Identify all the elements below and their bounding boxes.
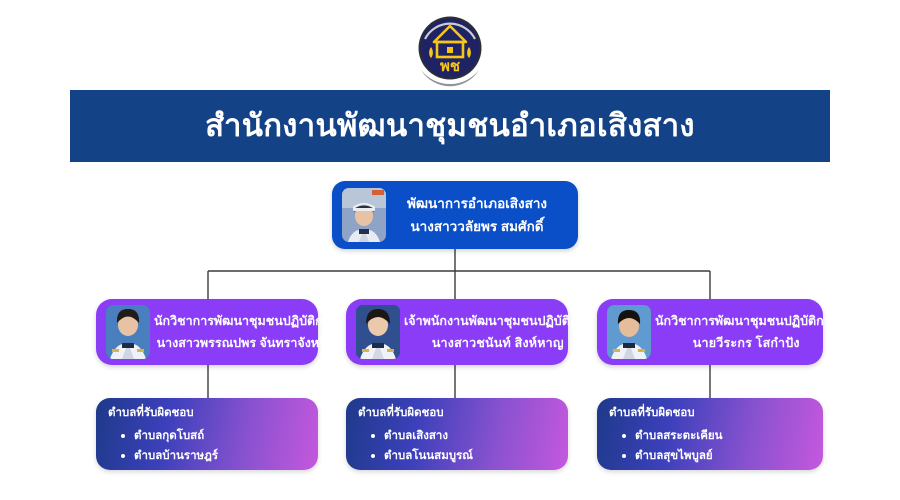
tambon-center-item-1: ตำบลเสิงสาง [384, 430, 448, 442]
org-chart-page: พช สำนักงานพัฒนาชุมชนอำเภอเสิงสาง [0, 0, 900, 500]
list-item: ตำบลกุดโบสถ์ [134, 426, 306, 446]
tambon-left-heading: ตำบลที่รับผิดชอบ [108, 407, 306, 421]
card-head-labels: พัฒนาการอำเภอเสิงสาง นางสาววลัยพร สมศักด… [386, 196, 568, 234]
bullet-icon [371, 454, 375, 458]
card-staff-right-person: นายวีระกร โสกำปัง [693, 336, 800, 350]
card-staff-center-person: นางสาวชนันท์ สิงห์หาญ [432, 336, 564, 350]
tambon-right-item-2: ตำบลสุขไพบูลย์ [635, 450, 713, 462]
tambon-box-left: ตำบลที่รับผิดชอบ ตำบลกุดโบสถ์ ตำบลบ้านรา… [96, 398, 318, 470]
card-staff-center[interactable]: เจ้าพนักงานพัฒนาชุมชนปฏิบัติงาน นางสาวชน… [346, 299, 568, 365]
list-item: ตำบลสระตะเคียน [635, 426, 811, 446]
bullet-icon [622, 454, 626, 458]
card-staff-right-role: นักวิชาการพัฒนาชุมชนปฏิบัติการ [655, 314, 837, 328]
list-item: ตำบลเสิงสาง [384, 426, 556, 446]
card-head-person: นางสาววลัยพร สมศักดิ์ [410, 219, 543, 235]
card-staff-center-labels: เจ้าพนักงานพัฒนาชุมชนปฏิบัติงาน นางสาวชน… [400, 314, 596, 350]
bullet-icon [371, 434, 375, 438]
tambon-center-item-2: ตำบลโนนสมบูรณ์ [384, 450, 473, 462]
tambon-left-item-1: ตำบลกุดโบสถ์ [134, 430, 204, 442]
card-head-officer[interactable]: พัฒนาการอำเภอเสิงสาง นางสาววลัยพร สมศักด… [332, 181, 578, 249]
card-staff-center-role: เจ้าพนักงานพัฒนาชุมชนปฏิบัติงาน [404, 314, 592, 328]
card-staff-right-labels: นักวิชาการพัฒนาชุมชนปฏิบัติการ นายวีระกร… [651, 314, 841, 350]
bullet-icon [121, 454, 125, 458]
officer-portrait-photo [607, 305, 651, 359]
tambon-left-list: ตำบลกุดโบสถ์ ตำบลบ้านราษฎร์ [108, 426, 306, 466]
officer-portrait-photo [356, 305, 400, 359]
bullet-icon [622, 434, 626, 438]
tambon-right-list: ตำบลสระตะเคียน ตำบลสุขไพบูลย์ [609, 426, 811, 466]
card-staff-left-role: นักวิชาการพัฒนาชุมชนปฏิบัติการ [154, 314, 336, 328]
officer-portrait-photo [106, 305, 150, 359]
bullet-icon [121, 434, 125, 438]
tambon-box-right: ตำบลที่รับผิดชอบ ตำบลสระตะเคียน ตำบลสุขไ… [597, 398, 823, 470]
page-title: สำนักงานพัฒนาชุมชนอำเภอเสิงสาง [205, 109, 695, 143]
list-item: ตำบลโนนสมบูรณ์ [384, 446, 556, 466]
officer-portrait-cap-photo [342, 188, 386, 242]
tambon-right-heading: ตำบลที่รับผิดชอบ [609, 407, 811, 421]
card-staff-right[interactable]: นักวิชาการพัฒนาชุมชนปฏิบัติการ นายวีระกร… [597, 299, 823, 365]
list-item: ตำบลบ้านราษฎร์ [134, 446, 306, 466]
card-head-role: พัฒนาการอำเภอเสิงสาง [407, 196, 547, 212]
card-staff-left-person: นางสาวพรรณปพร จันทราจังหรีด [157, 336, 334, 350]
page-title-banner: สำนักงานพัฒนาชุมชนอำเภอเสิงสาง [70, 90, 830, 162]
tambon-right-item-1: ตำบลสระตะเคียน [635, 430, 723, 442]
tambon-left-item-2: ตำบลบ้านราษฎร์ [134, 450, 218, 462]
logo-center-text: พช [440, 57, 460, 75]
tambon-box-center: ตำบลที่รับผิดชอบ ตำบลเสิงสาง ตำบลโนนสมบู… [346, 398, 568, 470]
tambon-center-heading: ตำบลที่รับผิดชอบ [358, 407, 556, 421]
tambon-center-list: ตำบลเสิงสาง ตำบลโนนสมบูรณ์ [358, 426, 556, 466]
cdd-thailand-emblem-icon: พช [411, 9, 489, 87]
card-staff-left[interactable]: นักวิชาการพัฒนาชุมชนปฏิบัติการ นางสาวพรร… [96, 299, 318, 365]
card-staff-left-labels: นักวิชาการพัฒนาชุมชนปฏิบัติการ นางสาวพรร… [150, 314, 340, 350]
list-item: ตำบลสุขไพบูลย์ [635, 446, 811, 466]
